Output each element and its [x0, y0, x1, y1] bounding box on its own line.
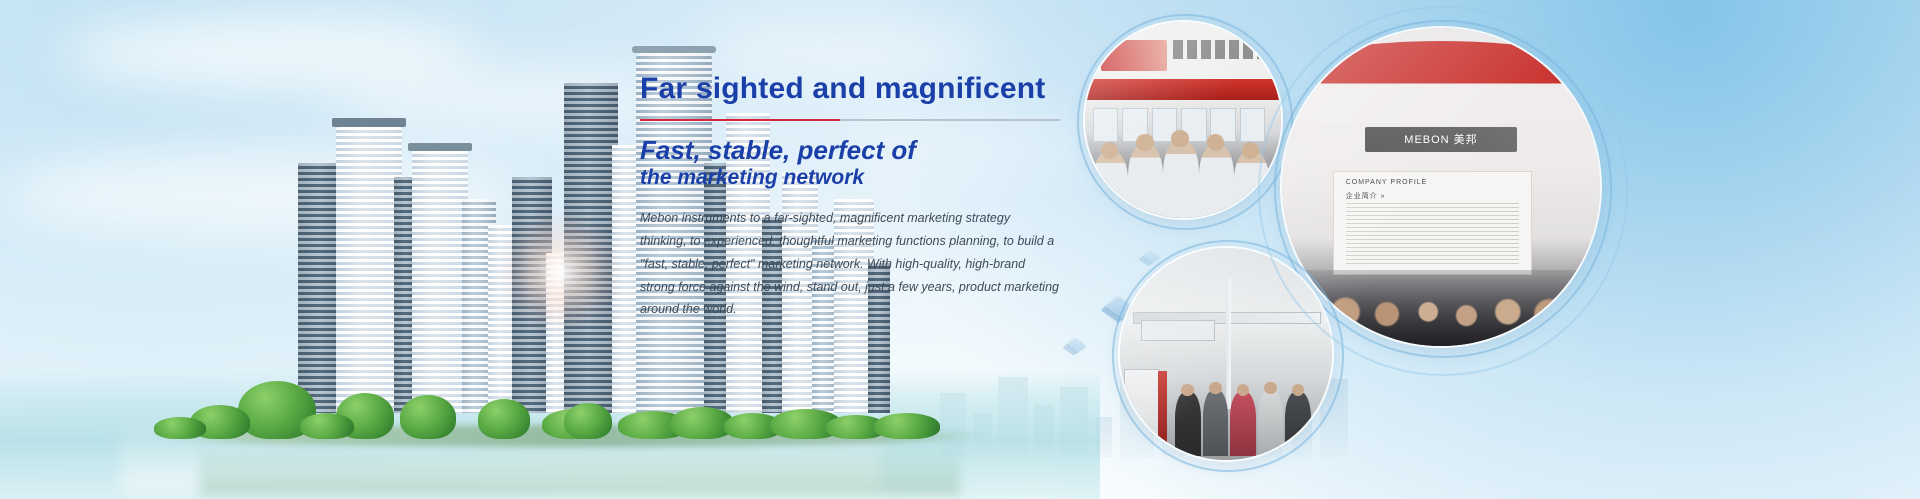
company-profile-title: COMPANY PROFILE — [1346, 179, 1428, 186]
subtitle-line-2: the marketing network — [640, 166, 1070, 189]
booth-red-banner — [1085, 79, 1281, 101]
instrument-accent — [1158, 371, 1166, 452]
hero-banner: Far sighted and magnificent Fast, stable… — [0, 0, 1920, 499]
company-profile-text — [1346, 203, 1519, 266]
mebon-sign: MEBON 美邦 — [1365, 127, 1518, 152]
booth-logo — [1101, 40, 1168, 71]
subtitle-line-1: Fast, stable, perfect of — [640, 137, 1070, 164]
photo-thumbs-up-team-image — [1120, 248, 1332, 460]
page-title: Far sighted and magnificent — [640, 72, 1070, 105]
photo-thumbs-up-team — [1120, 248, 1332, 460]
hero-copy: Far sighted and magnificent Fast, stable… — [640, 72, 1070, 321]
photo-booth-team — [1085, 22, 1281, 218]
company-profile-board: COMPANY PROFILE 企业简介 » — [1333, 171, 1532, 275]
booth-arch — [1282, 41, 1600, 124]
photo-booth-team-image — [1085, 22, 1281, 218]
island-greenery — [150, 329, 970, 439]
booth-name-plate — [1141, 320, 1215, 341]
title-divider — [640, 119, 1060, 121]
instrument-cabinet — [1124, 369, 1160, 452]
company-profile-title-cn: 企业简介 » — [1346, 191, 1386, 201]
hero-description: Mebon instruments to a far-sighted, magn… — [640, 207, 1060, 321]
booth-header-text — [1173, 40, 1271, 60]
water-reflection — [200, 443, 960, 495]
lens-flare — [500, 212, 620, 332]
booth-pole — [1226, 278, 1231, 409]
